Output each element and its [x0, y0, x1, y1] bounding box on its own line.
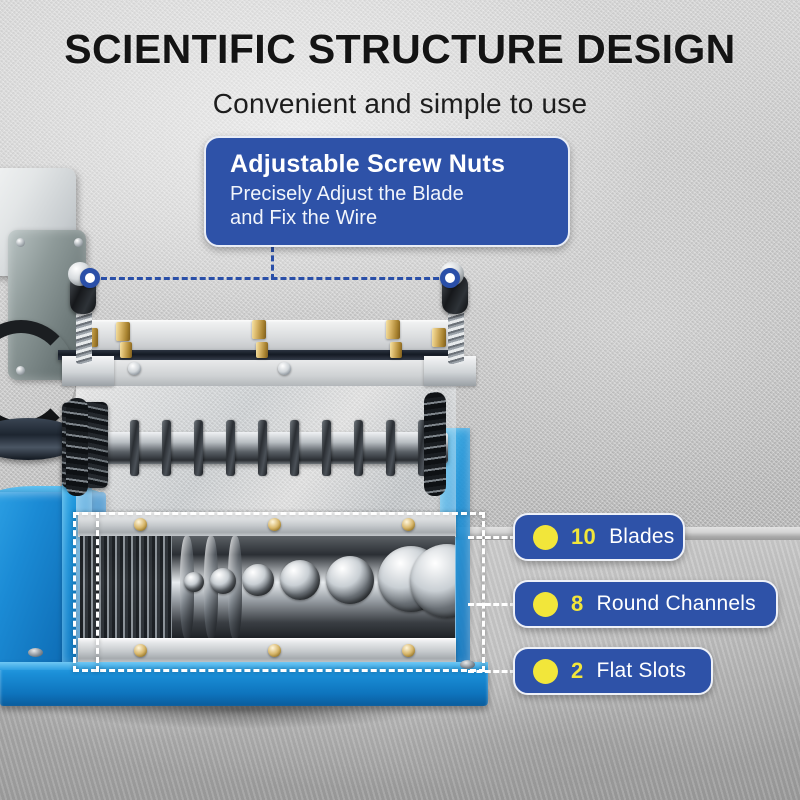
brass-standoff [252, 320, 266, 339]
feature-label: Flat Slots [597, 659, 687, 683]
callout-description-line-1: Precisely Adjust the Blade [230, 182, 550, 206]
bullet-dot-icon [533, 592, 558, 617]
callout-description-line-2: and Fix the Wire [230, 206, 550, 230]
blade-disc [290, 420, 299, 476]
page-subtitle: Convenient and simple to use [0, 88, 800, 120]
blade-assembly-highlight-box [73, 512, 485, 672]
brass-standoff [386, 320, 400, 339]
feature-connector-line [468, 603, 516, 606]
junction-screw [74, 238, 83, 247]
bullet-dot-icon [533, 659, 558, 684]
feature-badge-flat-slots: 2 Flat Slots [513, 647, 713, 695]
product-infographic: SCIENTIFIC STRUCTURE DESIGN Convenient a… [0, 0, 800, 800]
blade-disc [258, 420, 267, 476]
feature-badge-round-channels: 8 Round Channels [513, 580, 778, 628]
brass-standoff [120, 342, 132, 358]
brass-standoff [256, 342, 268, 358]
callout-marker-dot-right-icon [440, 268, 460, 288]
junction-screw [16, 238, 25, 247]
blade-disc [130, 420, 139, 476]
feature-number: 2 [571, 658, 584, 684]
feature-number: 10 [571, 524, 596, 550]
feature-badge-blades: 10 Blades [513, 513, 685, 561]
blade-disc [354, 420, 363, 476]
adjuster-thread-right [448, 306, 464, 364]
callout-leader-vertical [271, 246, 274, 280]
blade-disc [322, 420, 331, 476]
feature-number: 8 [571, 591, 584, 617]
brass-standoff [390, 342, 402, 358]
brass-standoff [432, 328, 446, 347]
base-screw [28, 648, 43, 657]
feature-label: Round Channels [597, 592, 756, 616]
adjuster-thread-left [76, 306, 92, 364]
blade-disc [386, 420, 395, 476]
feature-connector-line [468, 670, 516, 673]
tension-spring-left [66, 398, 88, 496]
blade-shaft [96, 432, 448, 464]
tension-spring-right [424, 392, 446, 496]
blade-disc [194, 420, 203, 476]
callout-marker-dot-left-icon [80, 268, 100, 288]
brass-standoff [116, 322, 130, 341]
top-plate-screw [278, 362, 291, 375]
page-title: SCIENTIFIC STRUCTURE DESIGN [0, 26, 800, 73]
callout-title: Adjustable Screw Nuts [230, 150, 550, 179]
top-plate-screw [128, 362, 141, 375]
bullet-dot-icon [533, 525, 558, 550]
feature-connector-line [468, 536, 516, 539]
blade-assembly-highlight-divider [96, 512, 99, 672]
callout-adjustable-screw-nuts: Adjustable Screw Nuts Precisely Adjust t… [204, 136, 570, 247]
feature-label: Blades [609, 525, 674, 549]
blade-disc [226, 420, 235, 476]
blade-disc [162, 420, 171, 476]
callout-leader-horizontal [92, 277, 457, 280]
